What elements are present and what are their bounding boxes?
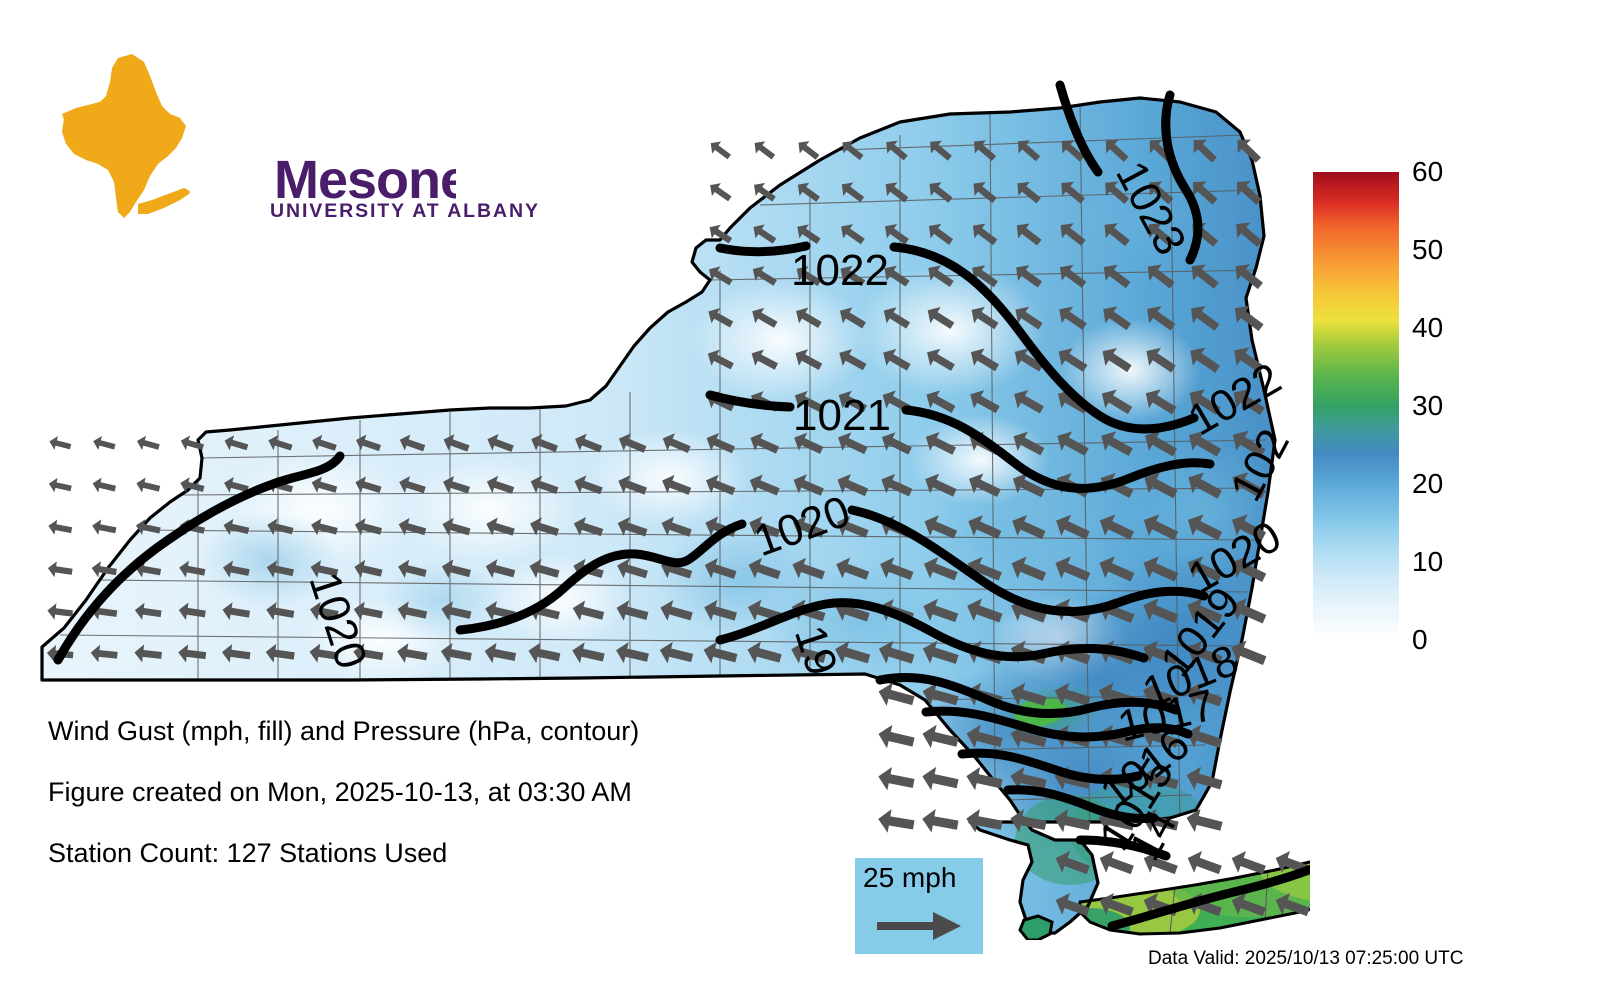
wind-arrow	[1184, 847, 1225, 881]
nys-mesonet-logo: NYS Mesonet UNIVERSITY AT ALBANY	[58, 52, 398, 222]
colorbar-tick-30: 30	[1412, 392, 1443, 420]
wind-arrow	[876, 765, 916, 796]
wind-legend-label: 25 mph	[863, 862, 956, 894]
wind-arrow	[47, 518, 73, 537]
wind-arrow	[750, 137, 778, 164]
wind-arrow	[706, 179, 735, 206]
figure-caption: Wind Gust (mph, fill) and Pressure (hPa,…	[48, 718, 808, 901]
wind-arrow	[135, 476, 162, 497]
wind-arrow	[876, 807, 915, 837]
colorbar-tick-10: 10	[1412, 548, 1443, 576]
wind-arrow	[920, 807, 960, 837]
contour-label-1021: 1021	[793, 391, 891, 440]
wind-arrow	[48, 434, 73, 453]
caption-title: Wind Gust (mph, fill) and Pressure (hPa,…	[48, 718, 808, 745]
wind-vector-legend: 25 mph	[855, 858, 983, 954]
wind-arrow	[876, 722, 917, 754]
colorbar-tick-60: 60	[1412, 158, 1443, 186]
wind-arrow	[91, 476, 117, 496]
gust-colorbar	[1313, 172, 1399, 640]
figure-canvas: 1022102310211022102102010201020191019101…	[0, 0, 1600, 1000]
wind-arrow	[135, 434, 161, 454]
wind-arrow	[920, 765, 960, 796]
wind-arrow	[91, 518, 118, 538]
logo-subtitle: UNIVERSITY AT ALBANY	[270, 200, 540, 223]
colorbar-tick-20: 20	[1412, 470, 1443, 498]
wind-arrow	[47, 560, 74, 580]
wind-arrow	[91, 434, 116, 454]
arrow-right-icon	[877, 910, 963, 942]
colorbar-gradient	[1313, 172, 1399, 640]
caption-station-count: Station Count: 127 Stations Used	[48, 840, 808, 867]
wind-arrow	[47, 476, 72, 495]
staten-island-outline	[1020, 916, 1052, 940]
data-valid-timestamp: Data Valid: 2025/10/13 07:25:00 UTC	[1148, 948, 1463, 970]
contour-label-1022: 1022	[791, 246, 889, 295]
colorbar-tick-0: 0	[1412, 626, 1428, 654]
caption-created: Figure created on Mon, 2025-10-13, at 03…	[48, 779, 808, 806]
wind-arrow	[706, 137, 734, 163]
colorbar-tick-40: 40	[1412, 314, 1443, 342]
colorbar-tick-50: 50	[1412, 236, 1443, 264]
colorbar-tick-labels: 0102030405060	[1412, 172, 1502, 640]
